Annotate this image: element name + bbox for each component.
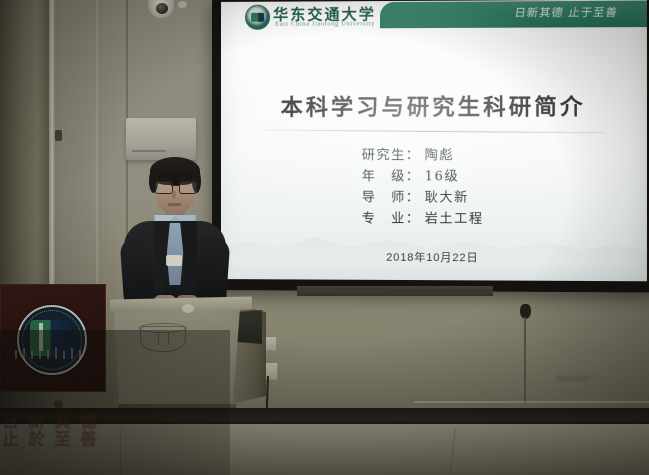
left-wall-column [0, 0, 52, 290]
info-value-major: 岩土工程 [425, 209, 484, 230]
info-label-advisor: 导 师： [362, 187, 425, 208]
info-row-grade: 年 级： 16级 [362, 166, 628, 188]
presenter-eyebrow-left [156, 178, 170, 180]
wall-mounted-panel [126, 118, 196, 160]
lectern-logo-plate [182, 304, 194, 313]
camera-mount [178, 1, 187, 8]
projection-screen-frame: 日新其德 止于至善 华东交通大学 East China Jiaotong Uni… [212, 0, 649, 293]
slide-date: 2018年10月22日 [221, 248, 647, 266]
projection-screen: 日新其德 止于至善 华东交通大学 East China Jiaotong Uni… [221, 0, 647, 281]
info-value-student: 陶彪 [425, 145, 455, 166]
lectern-equipment-recess [236, 310, 262, 344]
info-row-advisor: 导 师： 耿大新 [362, 187, 628, 209]
eyeglass-bridge [171, 185, 179, 186]
presenter-badge [166, 255, 182, 266]
foreground-shadow [0, 330, 230, 475]
presenter-nose [172, 191, 176, 199]
presenter-eyebrow-right [180, 178, 194, 180]
slide-title: 本科学习与研究生科研简介 [221, 89, 647, 122]
info-label-major: 专 业： [362, 208, 425, 229]
wall-column-edge-secondary [96, 0, 101, 300]
wall-trim-line [414, 401, 649, 403]
camera-lens-icon [156, 3, 168, 14]
university-name-en: East China Jiaotong University [275, 20, 375, 27]
eyeglasses-icon [155, 181, 196, 192]
slide-header-band: 日新其德 止于至善 华东交通大学 East China Jiaotong Uni… [221, 0, 647, 32]
eyeglass-lens-left [155, 181, 173, 194]
wall-panel-label-strip [132, 150, 166, 152]
wall-smudge [556, 376, 590, 381]
info-row-major: 专 业： 岩土工程 [362, 208, 628, 230]
slide-info-block: 研究生： 陶彪 年 级： 16级 导 师： 耿大新 专 业： 岩土工程 [362, 145, 628, 230]
presentation-photo: 日新其德 止于至善 华东交通大学 East China Jiaotong Uni… [0, 0, 649, 475]
hanging-cord [524, 317, 526, 403]
info-label-student: 研究生： [362, 145, 425, 166]
info-value-advisor: 耿大新 [425, 187, 469, 208]
screen-glare [221, 0, 647, 281]
eyeglass-lens-right [179, 181, 197, 194]
university-seal-logo [245, 5, 270, 30]
screen-lower-rail [297, 286, 493, 296]
info-label-grade: 年 级： [362, 166, 425, 187]
info-value-grade: 16级 [425, 166, 460, 187]
info-row-student: 研究生： 陶彪 [362, 145, 628, 166]
seal-flag-icon [251, 13, 264, 22]
wall-column-edge [49, 0, 55, 300]
slide-divider-rule [265, 130, 606, 134]
presenter-mouth [168, 203, 181, 206]
wall-mark [55, 130, 62, 141]
university-motto: 日新其德 止于至善 [513, 4, 644, 25]
